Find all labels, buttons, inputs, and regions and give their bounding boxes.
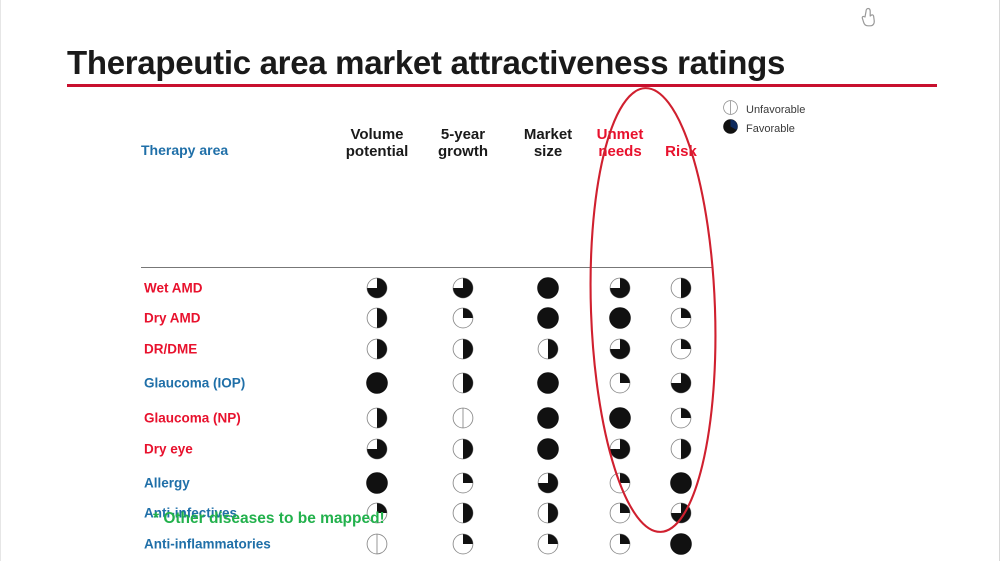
rating-ball[interactable] bbox=[452, 472, 474, 494]
page-title: Therapeutic area market attractiveness r… bbox=[67, 44, 785, 82]
row-label-glaucoma-iop-: Glaucoma (IOP) bbox=[144, 376, 245, 391]
rating-ball[interactable] bbox=[452, 407, 474, 429]
table-row[interactable]: Anti-inflammatories bbox=[141, 532, 721, 556]
rating-ball[interactable] bbox=[609, 533, 631, 555]
rating-ball[interactable] bbox=[670, 438, 692, 460]
table-row[interactable]: Dry AMD bbox=[141, 306, 721, 330]
rating-ball[interactable] bbox=[537, 307, 559, 329]
rating-ball[interactable] bbox=[366, 533, 388, 555]
rating-ball[interactable] bbox=[670, 502, 692, 524]
row-label-wet-amd: Wet AMD bbox=[144, 281, 203, 296]
rating-ball[interactable] bbox=[609, 277, 631, 299]
rating-ball[interactable] bbox=[366, 472, 388, 494]
ratings-table: Therapy area Volumepotential5-yeargrowth… bbox=[141, 108, 721, 160]
legend: Unfavorable Favorable bbox=[723, 100, 805, 138]
pointer-hand-cursor bbox=[859, 6, 877, 33]
rating-ball[interactable] bbox=[537, 472, 559, 494]
column-header-line1: Unmet bbox=[597, 126, 644, 143]
legend-label-unfavorable: Unfavorable bbox=[746, 104, 805, 116]
rating-ball[interactable] bbox=[366, 438, 388, 460]
rating-ball[interactable] bbox=[366, 338, 388, 360]
table-row[interactable]: Dry eye bbox=[141, 437, 721, 461]
row-label-anti-inflammatories: Anti-inflammatories bbox=[144, 537, 271, 552]
rating-ball[interactable] bbox=[670, 277, 692, 299]
rating-ball[interactable] bbox=[537, 438, 559, 460]
rating-ball[interactable] bbox=[537, 372, 559, 394]
table-row[interactable]: Glaucoma (IOP) bbox=[141, 371, 721, 395]
column-header-therapy-area: Therapy area bbox=[141, 142, 228, 158]
rating-ball[interactable] bbox=[609, 502, 631, 524]
rating-ball[interactable] bbox=[670, 407, 692, 429]
legend-label-favorable: Favorable bbox=[746, 123, 795, 135]
legend-item-unfavorable: Unfavorable bbox=[723, 100, 805, 119]
rating-ball[interactable] bbox=[609, 438, 631, 460]
row-label-glaucoma-np-: Glaucoma (NP) bbox=[144, 411, 241, 426]
rating-ball[interactable] bbox=[670, 338, 692, 360]
rating-ball[interactable] bbox=[537, 502, 559, 524]
rating-ball[interactable] bbox=[670, 533, 692, 555]
rating-ball[interactable] bbox=[452, 277, 474, 299]
rating-ball[interactable] bbox=[452, 502, 474, 524]
row-label-dr-dme: DR/DME bbox=[144, 342, 197, 357]
rating-ball[interactable] bbox=[609, 407, 631, 429]
column-header-line1: 5-year bbox=[438, 126, 488, 143]
row-label-allergy: Allergy bbox=[144, 476, 190, 491]
table-row[interactable]: Glaucoma (NP) bbox=[141, 406, 721, 430]
rating-ball[interactable] bbox=[670, 372, 692, 394]
table-row[interactable]: Wet AMD bbox=[141, 276, 721, 300]
column-header-potential: Volumepotential bbox=[346, 126, 409, 160]
column-header-size: Marketsize bbox=[524, 126, 572, 160]
rating-ball[interactable] bbox=[366, 372, 388, 394]
column-header-line2: potential bbox=[346, 143, 409, 160]
harvey-ball-full-icon bbox=[723, 119, 738, 139]
rating-ball[interactable] bbox=[609, 338, 631, 360]
row-label-dry-eye: Dry eye bbox=[144, 442, 193, 457]
rating-ball[interactable] bbox=[452, 372, 474, 394]
table-column-headers: Therapy area Volumepotential5-yeargrowth… bbox=[141, 108, 721, 160]
rating-ball[interactable] bbox=[537, 277, 559, 299]
table-row[interactable]: DR/DME bbox=[141, 337, 721, 361]
column-header-growth: 5-yeargrowth bbox=[438, 126, 488, 160]
column-header-line2: growth bbox=[438, 143, 488, 160]
header-divider bbox=[141, 267, 713, 268]
rating-ball[interactable] bbox=[452, 533, 474, 555]
column-header-line2: size bbox=[524, 143, 572, 160]
rating-ball[interactable] bbox=[670, 307, 692, 329]
rating-ball[interactable] bbox=[537, 407, 559, 429]
rating-ball[interactable] bbox=[609, 372, 631, 394]
rating-ball[interactable] bbox=[366, 307, 388, 329]
harvey-ball-empty-icon bbox=[723, 100, 738, 120]
footnote-text: * Other diseases to be mapped! bbox=[153, 510, 385, 528]
rating-ball[interactable] bbox=[609, 307, 631, 329]
table-row[interactable]: Allergy bbox=[141, 471, 721, 495]
rating-ball[interactable] bbox=[366, 277, 388, 299]
slide-canvas: Therapeutic area market attractiveness r… bbox=[0, 0, 1000, 561]
column-header-line2: Risk bbox=[665, 143, 697, 160]
rating-ball[interactable] bbox=[609, 472, 631, 494]
rating-ball[interactable] bbox=[670, 472, 692, 494]
legend-item-favorable: Favorable bbox=[723, 119, 805, 138]
title-underline-rule bbox=[67, 84, 937, 87]
column-header-risk: Risk bbox=[665, 143, 697, 160]
column-header-line2: needs bbox=[597, 143, 644, 160]
rating-ball[interactable] bbox=[452, 307, 474, 329]
column-header-line1: Volume bbox=[346, 126, 409, 143]
rating-ball[interactable] bbox=[537, 338, 559, 360]
rating-ball[interactable] bbox=[452, 438, 474, 460]
rating-ball[interactable] bbox=[366, 407, 388, 429]
column-header-needs: Unmetneeds bbox=[597, 126, 644, 160]
rating-ball[interactable] bbox=[537, 533, 559, 555]
column-header-line1: Market bbox=[524, 126, 572, 143]
rating-ball[interactable] bbox=[452, 338, 474, 360]
row-label-dry-amd: Dry AMD bbox=[144, 311, 201, 326]
